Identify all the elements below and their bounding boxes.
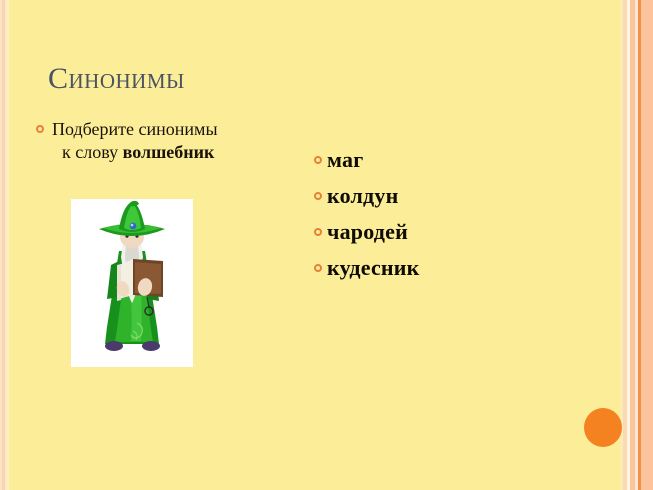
left-edge-ribbon-stripe-2 <box>2 0 5 490</box>
orange-accent-dot <box>584 408 622 447</box>
left-edge-ribbon-stripe-4 <box>7 0 9 490</box>
list-item: колдун <box>314 178 544 214</box>
right-edge-ribbon-stripe-6 <box>638 0 641 490</box>
left-edge-ribbon-stripe-1 <box>0 0 2 490</box>
presentation-slide: Синонимы Подберите синонимы к слову волш… <box>0 0 653 490</box>
wizard-image <box>71 199 193 367</box>
prompt-bullet-item: Подберите синонимы к слову волшебник <box>36 118 306 164</box>
wizard-illustration-icon <box>71 199 193 367</box>
prompt-line-1: Подберите синонимы <box>52 119 218 139</box>
right-edge-ribbon-stripe-2 <box>623 0 627 490</box>
prompt-keyword: волшебник <box>123 142 215 162</box>
ring-bullet-icon <box>314 228 322 236</box>
synonym-label: кудесник <box>327 255 420 281</box>
prompt-text: Подберите синонимы к слову волшебник <box>52 118 218 164</box>
ring-bullet-icon <box>314 192 322 200</box>
synonym-label: чародей <box>327 219 408 245</box>
ring-bullet-icon <box>36 125 44 133</box>
prompt-line-2: к слову волшебник <box>52 141 218 164</box>
right-edge-ribbon-stripe-1 <box>620 0 623 490</box>
synonym-label: колдун <box>327 183 398 209</box>
list-item: маг <box>314 142 544 178</box>
right-edge-ribbon-stripe-7 <box>641 0 653 490</box>
right-edge-ribbon-stripe-3 <box>627 0 630 490</box>
slide-title: Синонимы <box>48 62 185 96</box>
synonyms-list: маг колдун чародей кудесник <box>314 142 544 286</box>
right-edge-ribbon-stripe-5 <box>635 0 638 490</box>
right-edge-ribbon-stripe-4 <box>630 0 635 490</box>
list-item: чародей <box>314 214 544 250</box>
prompt-line-2-prefix: к слову <box>62 142 123 162</box>
list-item: кудесник <box>314 250 544 286</box>
ring-bullet-icon <box>314 264 322 272</box>
synonym-label: маг <box>327 147 363 173</box>
left-edge-ribbon-stripe-3 <box>5 0 7 490</box>
ring-bullet-icon <box>314 156 322 164</box>
